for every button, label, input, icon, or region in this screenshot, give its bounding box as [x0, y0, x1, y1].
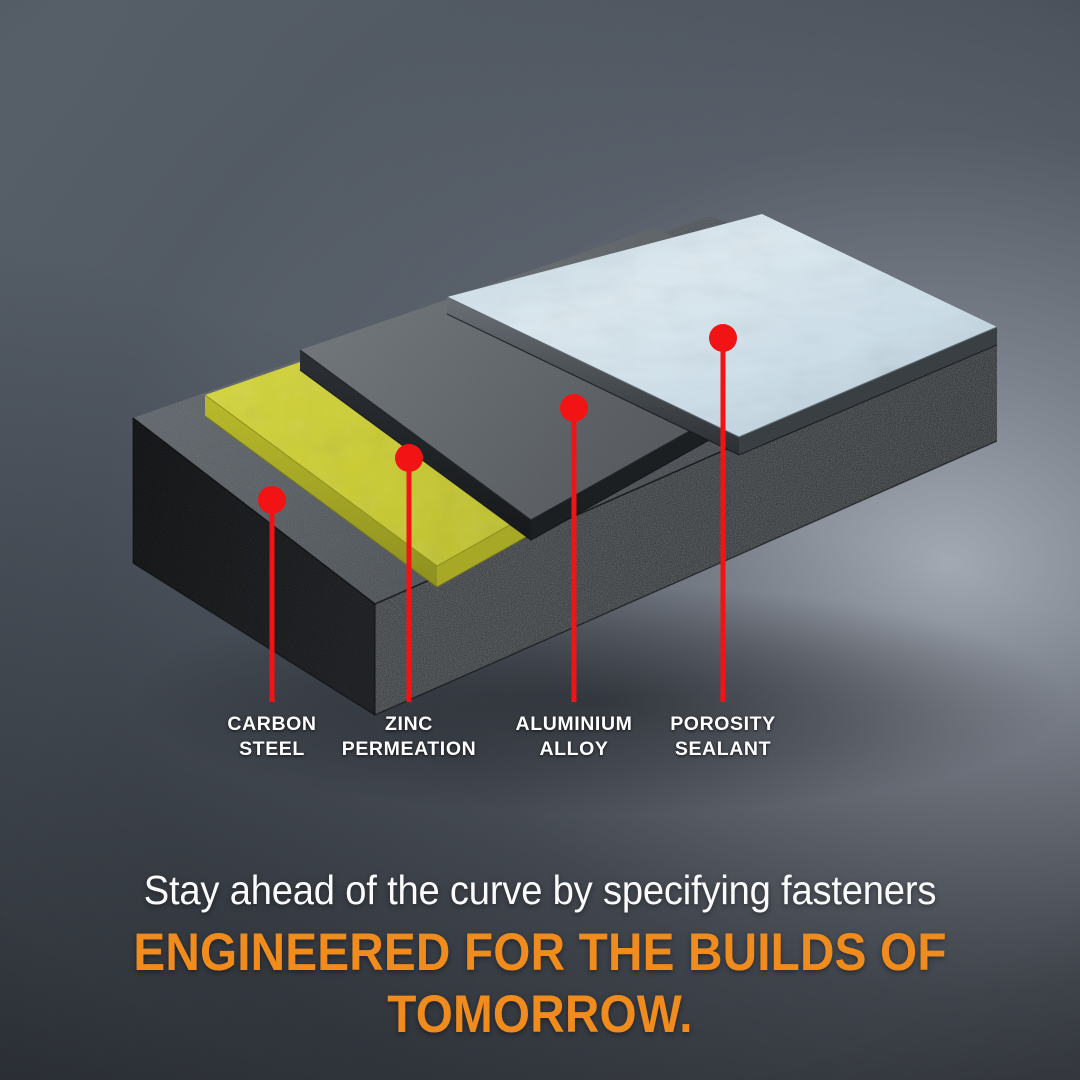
tagline-block: Stay ahead of the curve by specifying fa…	[0, 866, 1080, 1046]
callout-label-group: CARBON STEEL ZINC PERMEATION ALUMINIUM A…	[0, 712, 1080, 782]
poster-canvas: CARBON STEEL ZINC PERMEATION ALUMINIUM A…	[0, 0, 1080, 1080]
tagline-line-2: ENGINEERED FOR THE BUILDS OF TOMORROW.	[54, 922, 1026, 1046]
tagline-line-1: Stay ahead of the curve by specifying fa…	[38, 866, 1042, 914]
label-porosity-sealant: POROSITY SEALANT	[623, 712, 823, 762]
